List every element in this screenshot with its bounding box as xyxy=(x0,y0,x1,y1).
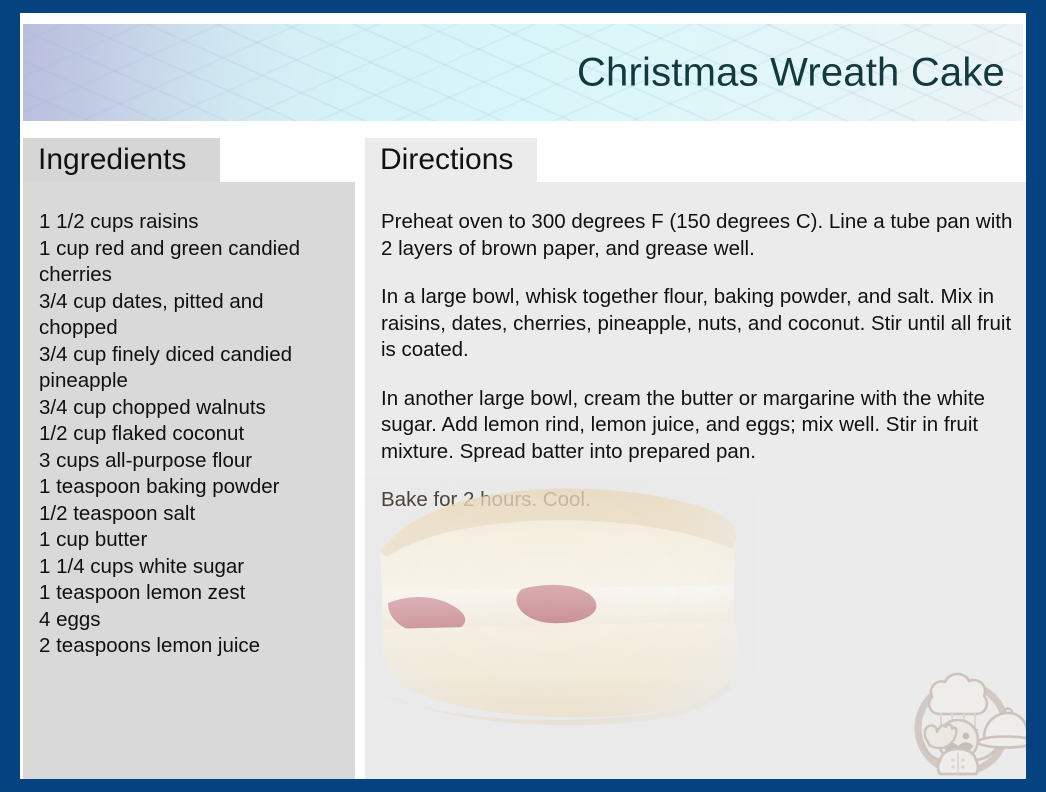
list-item: 2 teaspoons lemon juice xyxy=(39,633,343,660)
list-item: 3/4 cup finely diced candied pineapple xyxy=(39,342,343,395)
ingredients-heading: Ingredients xyxy=(23,138,220,182)
list-item: 1 teaspoon baking powder xyxy=(39,474,343,501)
list-item: 3/4 cup chopped walnuts xyxy=(39,395,343,422)
directions-body: Preheat oven to 300 degrees F (150 degre… xyxy=(365,182,1026,779)
list-item: 1/2 teaspoon salt xyxy=(39,501,343,528)
direction-paragraph: In a large bowl, whisk together flour, b… xyxy=(381,284,1014,364)
recipe-card: Christmas Wreath Cake Ingredients 1 1/2 … xyxy=(0,0,1046,792)
list-item: 1 cup butter xyxy=(39,527,343,554)
header-banner: Christmas Wreath Cake xyxy=(23,24,1023,121)
list-item: 1/2 cup flaked coconut xyxy=(39,421,343,448)
directions-heading: Directions xyxy=(365,138,537,182)
ingredient-list: 1 1/2 cups raisins 1 cup red and green c… xyxy=(39,209,343,660)
list-item: 1 teaspoon lemon zest xyxy=(39,580,343,607)
list-item: 1 cup red and green candied cherries xyxy=(39,236,343,289)
list-item: 1 1/4 cups white sugar xyxy=(39,554,343,581)
recipe-title: Christmas Wreath Cake xyxy=(577,50,1005,95)
direction-paragraph: Bake for 2 hours. Cool. xyxy=(381,487,1014,514)
list-item: 4 eggs xyxy=(39,607,343,634)
list-item: 3 cups all-purpose flour xyxy=(39,448,343,475)
list-item: 3/4 cup dates, pitted and chopped xyxy=(39,289,343,342)
ingredients-column: Ingredients 1 1/2 cups raisins 1 cup red… xyxy=(23,138,355,779)
direction-paragraph: In another large bowl, cream the butter … xyxy=(381,386,1014,466)
direction-paragraph: Preheat oven to 300 degrees F (150 degre… xyxy=(381,209,1014,262)
directions-column: Directions Preheat oven to 300 degrees F… xyxy=(365,138,1026,779)
list-item: 1 1/2 cups raisins xyxy=(39,209,343,236)
card-inner: Christmas Wreath Cake Ingredients 1 1/2 … xyxy=(20,13,1026,779)
ingredients-body: 1 1/2 cups raisins 1 cup red and green c… xyxy=(23,182,355,779)
